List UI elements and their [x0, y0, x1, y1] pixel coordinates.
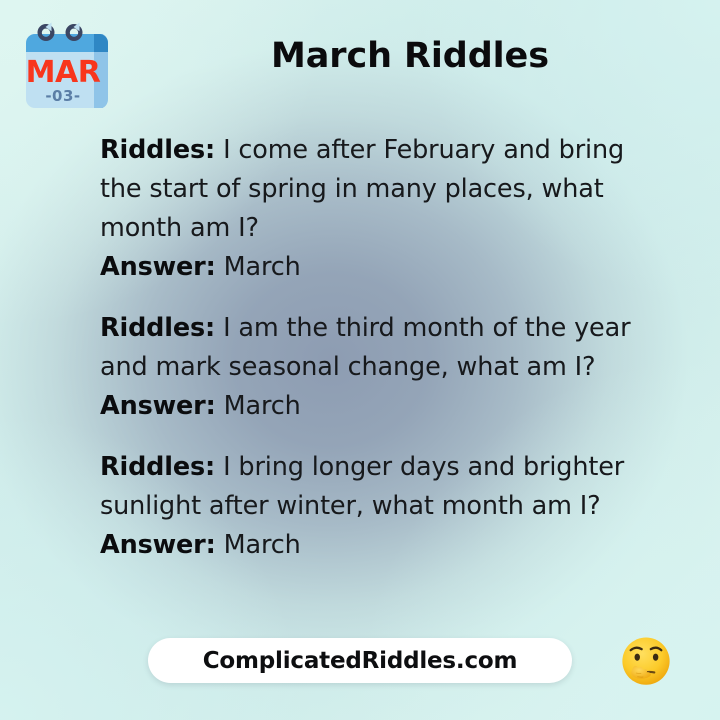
answer-text: March — [224, 391, 301, 421]
riddle-card: MAR -03- March Riddles Riddles: I come a… — [0, 0, 720, 720]
thinking-face-emoji — [618, 634, 674, 690]
answer-label: Answer: — [100, 530, 216, 560]
riddle-label: Riddles: — [100, 313, 215, 343]
riddle-label: Riddles: — [100, 452, 215, 482]
riddle-label: Riddles: — [100, 135, 215, 165]
header: MAR -03- March Riddles — [0, 0, 720, 120]
svg-text:-03-: -03- — [45, 87, 80, 105]
riddle-block: Riddles: I come after February and bring… — [100, 131, 660, 287]
answer-text: March — [224, 530, 301, 560]
riddle-answer: Answer: March — [100, 526, 660, 565]
answer-label: Answer: — [100, 391, 216, 421]
page-title: March Riddles — [130, 36, 690, 76]
riddle-answer: Answer: March — [100, 248, 660, 287]
riddle-answer: Answer: March — [100, 387, 660, 426]
svg-text:MAR: MAR — [26, 55, 101, 90]
riddle-list: Riddles: I come after February and bring… — [100, 131, 660, 565]
riddle-question: Riddles: I come after February and bring… — [100, 131, 652, 248]
site-badge-label: ComplicatedRiddles.com — [203, 648, 518, 674]
riddle-block: Riddles: I am the third month of the yea… — [100, 309, 660, 426]
riddle-question: Riddles: I bring longer days and brighte… — [100, 448, 652, 526]
calendar-march-icon: MAR -03- — [18, 18, 116, 115]
site-badge[interactable]: ComplicatedRiddles.com — [148, 638, 572, 683]
answer-label: Answer: — [100, 252, 216, 282]
riddle-question: Riddles: I am the third month of the yea… — [100, 309, 652, 387]
riddle-block: Riddles: I bring longer days and brighte… — [100, 448, 660, 565]
answer-text: March — [224, 252, 301, 282]
footer: ComplicatedRiddles.com — [0, 616, 720, 720]
